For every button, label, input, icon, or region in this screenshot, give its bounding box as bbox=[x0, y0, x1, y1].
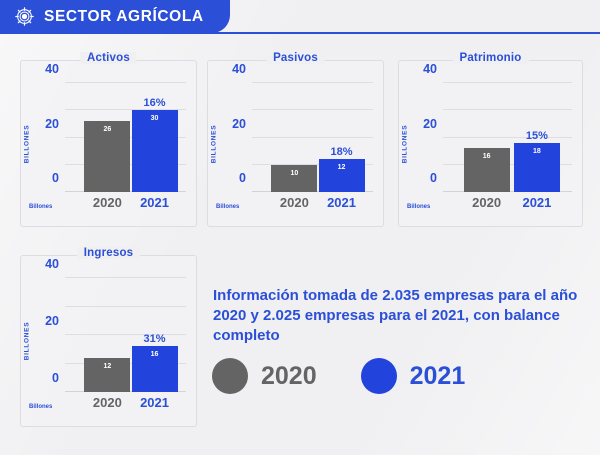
bar-2021-patrimonio[interactable]: 15% 18 2021 bbox=[514, 143, 560, 192]
bar-value-2021: 30 bbox=[132, 115, 178, 122]
chart-title-activos: Activos bbox=[80, 52, 137, 64]
x-label-2020: 2020 bbox=[464, 195, 510, 210]
gridline-30 bbox=[252, 109, 373, 110]
growth-pct-activos: 16% bbox=[132, 97, 178, 109]
gridline-40 bbox=[65, 277, 186, 278]
unit-label: Billones bbox=[407, 204, 430, 210]
page-header: SECTOR AGRÍCOLA bbox=[0, 0, 600, 36]
legend-swatch-2021 bbox=[361, 358, 397, 394]
y-tick-0: 0 bbox=[430, 171, 437, 185]
gear-emblem-icon bbox=[14, 6, 35, 27]
infographic-canvas: SECTOR AGRÍCOLA Activos BILLONES Billone… bbox=[0, 0, 600, 455]
chart-title-pasivos: Pasivos bbox=[266, 52, 325, 64]
page-title: SECTOR AGRÍCOLA bbox=[44, 8, 204, 26]
plot-area-pasivos: 40 20 0 10 2020 18% 12 2021 bbox=[252, 83, 373, 192]
gridline-40 bbox=[65, 82, 186, 83]
x-label-2021: 2021 bbox=[132, 395, 178, 410]
bar-2020-activos[interactable]: 26 2020 bbox=[84, 121, 130, 192]
header-banner: SECTOR AGRÍCOLA bbox=[0, 0, 230, 33]
bar-2020-pasivos[interactable]: 10 2020 bbox=[271, 165, 317, 192]
chart-card-pasivos: Pasivos BILLONES Billones 40 20 0 10 202… bbox=[207, 60, 384, 227]
y-tick-40: 40 bbox=[232, 62, 246, 76]
y-tick-20: 20 bbox=[45, 314, 59, 328]
bar-value-2020: 10 bbox=[271, 170, 317, 177]
gridline-40 bbox=[252, 82, 373, 83]
chart-card-patrimonio: Patrimonio BILLONES Billones 40 20 0 16 … bbox=[398, 60, 583, 227]
legend-item-2021: 2021 bbox=[361, 358, 466, 394]
x-label-2021: 2021 bbox=[132, 195, 178, 210]
y-axis-label: BILLONES bbox=[24, 124, 31, 162]
y-axis-label: BILLONES bbox=[211, 124, 218, 162]
chart-title-ingresos: Ingresos bbox=[77, 247, 141, 259]
x-label-2020: 2020 bbox=[84, 195, 130, 210]
y-tick-20: 20 bbox=[423, 117, 437, 131]
x-label-2021: 2021 bbox=[514, 195, 560, 210]
bar-value-2021: 12 bbox=[319, 164, 365, 171]
legend-item-2020: 2020 bbox=[212, 358, 317, 394]
bar-2021-activos[interactable]: 16% 30 2021 bbox=[132, 110, 178, 192]
unit-label: Billones bbox=[216, 204, 239, 210]
y-axis-label: BILLONES bbox=[24, 322, 31, 360]
bar-value-2020: 12 bbox=[84, 363, 130, 370]
y-tick-0: 0 bbox=[52, 371, 59, 385]
plot-area-activos: 40 20 0 26 2020 16% 30 2021 bbox=[65, 83, 186, 192]
x-label-2021: 2021 bbox=[319, 195, 365, 210]
gridline-30 bbox=[65, 306, 186, 307]
legend: 2020 2021 bbox=[212, 358, 465, 394]
plot-area-ingresos: 40 20 0 12 2020 31% 16 2021 bbox=[65, 278, 186, 392]
y-tick-0: 0 bbox=[239, 171, 246, 185]
legend-label-2021: 2021 bbox=[410, 362, 466, 391]
bar-value-2020: 26 bbox=[84, 126, 130, 133]
legend-label-2020: 2020 bbox=[261, 362, 317, 391]
chart-card-activos: Activos BILLONES Billones 40 20 0 26 202… bbox=[20, 60, 197, 227]
unit-label: Billones bbox=[29, 204, 52, 210]
y-tick-0: 0 bbox=[52, 171, 59, 185]
bar-2020-patrimonio[interactable]: 16 2020 bbox=[464, 148, 510, 192]
gridline-30 bbox=[443, 109, 572, 110]
bar-value-2021: 16 bbox=[132, 351, 178, 358]
y-tick-20: 20 bbox=[232, 117, 246, 131]
x-label-2020: 2020 bbox=[84, 395, 130, 410]
chart-title-patrimonio: Patrimonio bbox=[452, 52, 528, 64]
y-tick-40: 40 bbox=[423, 62, 437, 76]
growth-pct-ingresos: 31% bbox=[132, 333, 178, 345]
y-tick-40: 40 bbox=[45, 62, 59, 76]
bar-2021-ingresos[interactable]: 31% 16 2021 bbox=[132, 346, 178, 392]
bar-value-2021: 18 bbox=[514, 148, 560, 155]
growth-pct-patrimonio: 15% bbox=[514, 130, 560, 142]
legend-swatch-2020 bbox=[212, 358, 248, 394]
bar-2021-pasivos[interactable]: 18% 12 2021 bbox=[319, 159, 365, 192]
x-label-2020: 2020 bbox=[271, 195, 317, 210]
y-tick-40: 40 bbox=[45, 257, 59, 271]
plot-area-patrimonio: 40 20 0 16 2020 15% 18 2021 bbox=[443, 83, 572, 192]
bar-value-2020: 16 bbox=[464, 153, 510, 160]
unit-label: Billones bbox=[29, 404, 52, 410]
chart-card-ingresos: Ingresos BILLONES Billones 40 20 0 12 20… bbox=[20, 255, 197, 427]
gridline-20 bbox=[252, 137, 373, 138]
bar-2020-ingresos[interactable]: 12 2020 bbox=[84, 358, 130, 392]
gridline-40 bbox=[443, 82, 572, 83]
y-tick-20: 20 bbox=[45, 117, 59, 131]
source-note: Información tomada de 2.035 empresas par… bbox=[213, 286, 578, 346]
y-axis-label: BILLONES bbox=[402, 124, 409, 162]
growth-pct-pasivos: 18% bbox=[319, 146, 365, 158]
